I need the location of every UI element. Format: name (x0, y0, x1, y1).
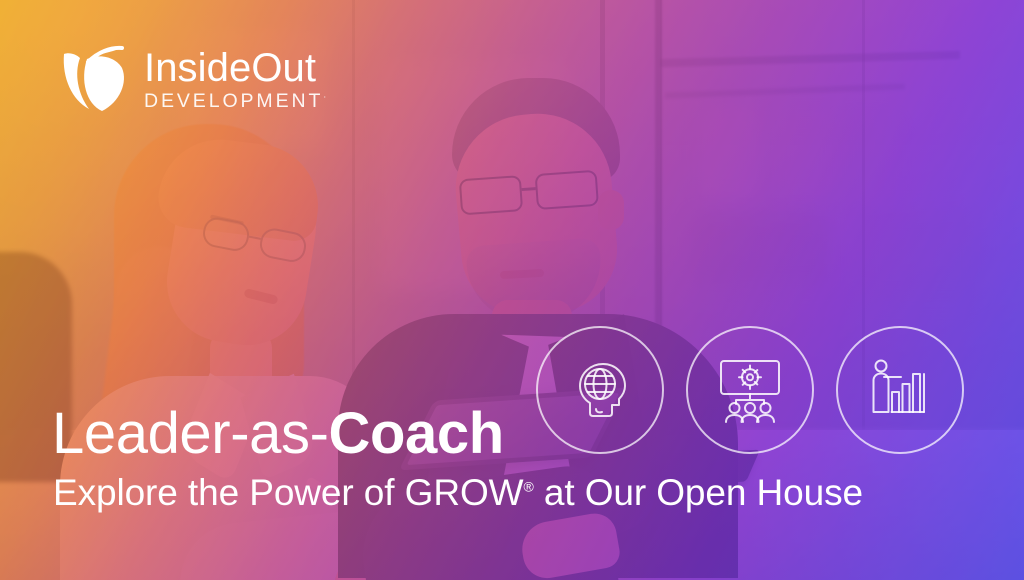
subheadline-after: at Our Open House (534, 472, 863, 513)
feature-icon-row (536, 326, 964, 454)
subheadline-before: Explore the Power of GROW (53, 472, 523, 513)
brand-tagline-trademark: · (323, 92, 326, 102)
headline-light: Leader-as- (52, 401, 329, 466)
presentation-gear-audience-icon (711, 351, 789, 429)
brand-tagline: DEVELOPMENT· (144, 92, 326, 112)
registered-trademark-mark: ® (523, 479, 533, 495)
headline: Leader-as-Coach (52, 404, 504, 464)
brand-logo-wordmark: InsideOut DEVELOPMENT· (144, 44, 326, 112)
brand-logo[interactable]: InsideOut DEVELOPMENT· (58, 44, 326, 118)
head-globe-icon (563, 353, 637, 427)
brand-tagline-text: DEVELOPMENT (144, 90, 323, 112)
person-bar-chart-growth-icon (864, 354, 936, 426)
leader-as-coach-banner: InsideOut DEVELOPMENT· (0, 0, 1024, 580)
insideout-leaf-arrow-mark (58, 44, 130, 118)
feature-icon-3[interactable] (836, 326, 964, 454)
feature-icon-2[interactable] (686, 326, 814, 454)
feature-icon-1[interactable] (536, 326, 664, 454)
headline-bold: Coach (329, 401, 504, 466)
brand-name: InsideOut (144, 48, 326, 88)
subheadline: Explore the Power of GROW® at Our Open H… (53, 473, 863, 513)
